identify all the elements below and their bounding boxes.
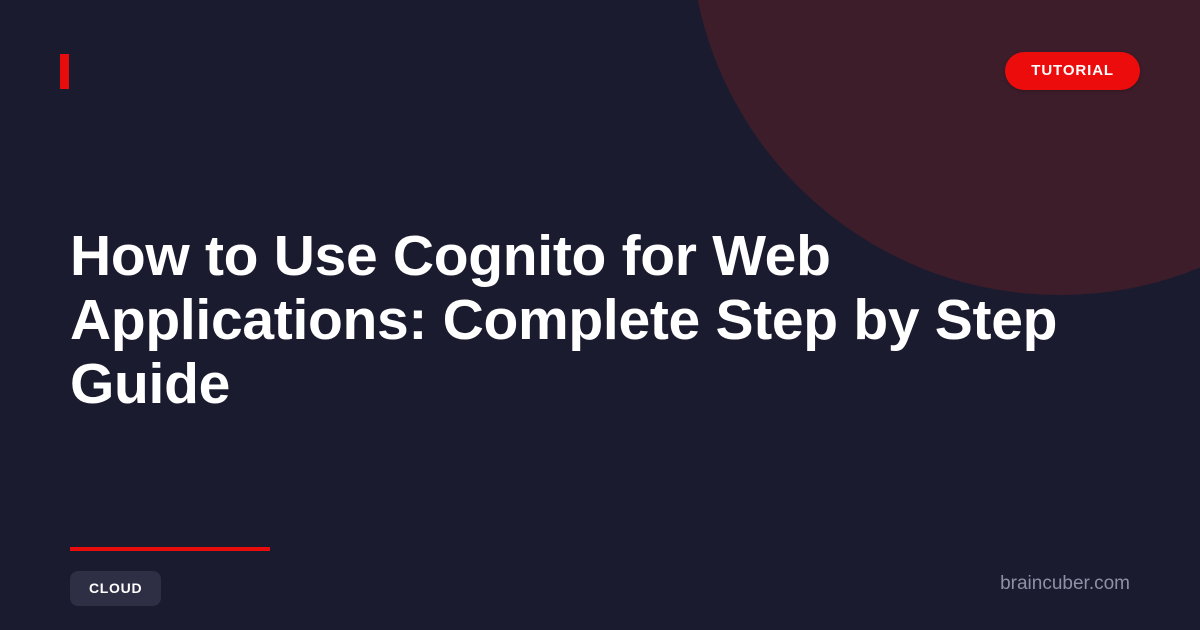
site-domain-label: braincuber.com [1000,574,1130,593]
page-title: How to Use Cognito for Web Applications:… [70,225,1145,416]
social-share-card: TUTORIAL How to Use Cognito for Web Appl… [0,0,1200,630]
divider-rule [70,547,270,551]
tutorial-badge[interactable]: TUTORIAL [1005,52,1140,90]
category-badge-cloud[interactable]: CLOUD [70,571,161,606]
accent-bar-decoration [60,54,69,89]
